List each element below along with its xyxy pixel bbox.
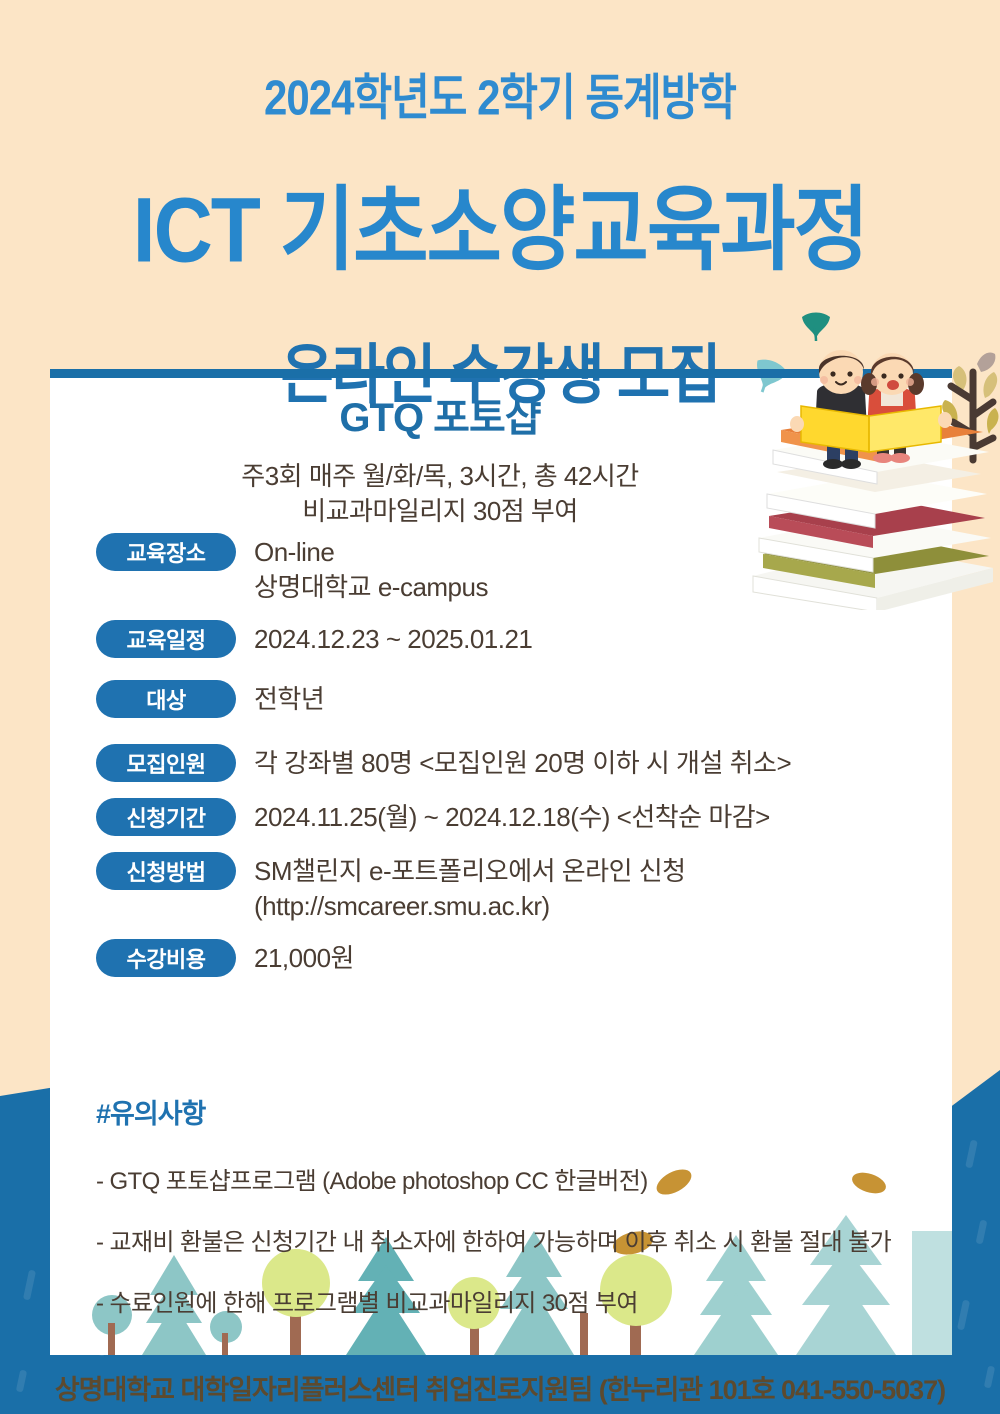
- info-row: 대상 전학년: [96, 680, 952, 718]
- course-subtitle-line-1: 주3회 매주 월/화/목, 3시간, 총 42시간: [50, 459, 830, 494]
- rain-streak: [976, 1220, 988, 1245]
- note-item: - 교재비 환불은 신청기간 내 취소자에 한하여 가능하며 이후 취소 시 환…: [96, 1222, 952, 1257]
- kids-reading-books-icon: [745, 330, 1000, 610]
- rain-streak: [23, 1270, 36, 1301]
- info-row: 교육일정 2024.12.23 ~ 2025.01.21: [96, 620, 952, 658]
- note-item: - GTQ 포토샵프로그램 (Adobe photoshop CC 한글버전): [96, 1161, 952, 1196]
- rain-streak: [957, 1300, 970, 1331]
- notes-heading: #유의사항: [96, 1092, 952, 1131]
- info-row-label: 신청방법: [96, 852, 236, 890]
- footer-contact: 상명대학교 대학일자리플러스센터 취업진로지원팀 (한누리관 101호 041-…: [0, 1368, 1000, 1407]
- info-row-label: 수강비용: [96, 939, 236, 977]
- info-row-value: 전학년: [254, 680, 324, 717]
- info-row-value: SM챌린지 e-포트폴리오에서 온라인 신청 (http://smcareer.…: [254, 852, 686, 923]
- info-row: 신청방법 SM챌린지 e-포트폴리오에서 온라인 신청 (http://smca…: [96, 852, 952, 923]
- note-item: - 수료인원에 한해 프로그램별 비교과마일리지 30점 부여: [96, 1283, 952, 1318]
- info-row: 모집인원 각 강좌별 80명 <모집인원 20명 이하 시 개설 취소>: [96, 744, 952, 782]
- notes-section: #유의사항 - GTQ 포토샵프로그램 (Adobe photoshop CC …: [96, 1092, 952, 1344]
- info-row-value: 2024.11.25(월) ~ 2024.12.18(수) <선착순 마감>: [254, 798, 770, 835]
- course-subtitle-line-2: 비교과마일리지 30점 부여: [50, 494, 830, 529]
- info-row-label: 교육장소: [96, 533, 236, 571]
- info-row-value: On-line 상명대학교 e-campus: [254, 533, 488, 604]
- info-row-label: 대상: [96, 680, 236, 718]
- info-row: 수강비용 21,000원: [96, 939, 952, 977]
- info-row-value: 2024.12.23 ~ 2025.01.21: [254, 620, 532, 657]
- info-row-label: 모집인원: [96, 744, 236, 782]
- info-row-value: 각 강좌별 80명 <모집인원 20명 이하 시 개설 취소>: [254, 744, 791, 781]
- info-row-value: 21,000원: [254, 939, 354, 976]
- header-line-2: ICT 기초소양교육과정: [0, 155, 1000, 288]
- info-row: 신청기간 2024.11.25(월) ~ 2024.12.18(수) <선착순 …: [96, 798, 952, 836]
- tree-icon: [942, 352, 998, 460]
- info-row-label: 신청기간: [96, 798, 236, 836]
- poster-root: 2024학년도 2학기 동계방학 ICT 기초소양교육과정 온라인 수강생 모집: [0, 0, 1000, 1414]
- info-row-label: 교육일정: [96, 620, 236, 658]
- notes-list: - GTQ 포토샵프로그램 (Adobe photoshop CC 한글버전) …: [96, 1161, 952, 1318]
- rain-streak: [965, 1140, 978, 1169]
- header-line-1: 2024학년도 2학기 동계방학: [0, 58, 1000, 130]
